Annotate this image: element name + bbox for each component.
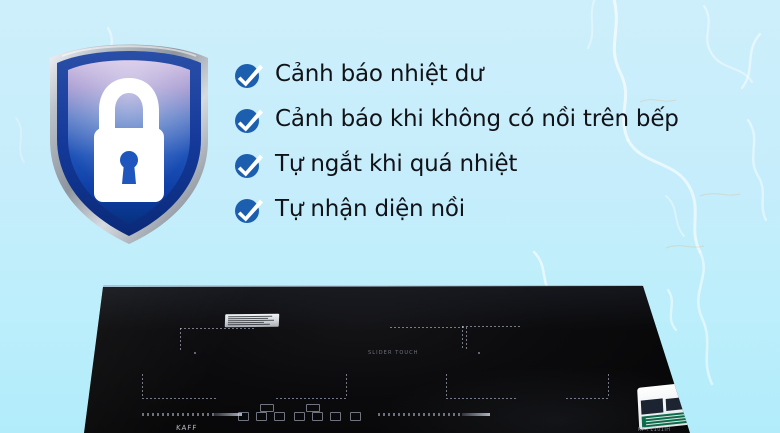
control-key-1[interactable] [238, 412, 249, 421]
sticker-brand: KAFF [677, 387, 688, 393]
control-key-4[interactable] [294, 412, 305, 421]
cooktop-glass-sheen [78, 286, 693, 433]
list-item-label: Cảnh báo nhiệt dư [275, 63, 484, 86]
control-key-power[interactable] [350, 412, 361, 421]
cooktop-surface: SLIDER TOUCH [78, 286, 693, 433]
right-power-slider-fill[interactable] [462, 413, 490, 416]
svg-text:24: 24 [672, 316, 682, 325]
check-circle-icon [233, 58, 265, 90]
zone-center-dot [194, 352, 196, 354]
list-item: Tự nhận diện nồi [233, 187, 753, 232]
banner-stage: Cảnh báo nhiệt dư Cảnh báo khi không có … [0, 0, 780, 433]
cooktop-brand-mark: KAFF [176, 424, 198, 432]
right-power-slider[interactable] [378, 413, 462, 416]
panel-label: SLIDER TOUCH [368, 350, 419, 356]
left-power-slider[interactable] [142, 413, 214, 416]
check-circle-icon [233, 103, 265, 135]
zone-center-dot [478, 352, 480, 354]
induction-cooktop: SLIDER TOUCH [0, 276, 780, 433]
list-item-label: Tự ngắt khi quá nhiệt [275, 153, 517, 176]
list-item: Tự ngắt khi quá nhiệt [233, 142, 753, 187]
check-circle-icon [233, 148, 265, 180]
feature-list: Cảnh báo nhiệt dư Cảnh báo khi không có … [233, 52, 753, 232]
control-key-6[interactable] [330, 412, 341, 421]
shield-lock-badge [44, 32, 214, 250]
cooktop-model-mark: KF-FL101IH [638, 427, 670, 433]
product-spec-sticker: KAFF [637, 380, 715, 430]
list-item: Cảnh báo nhiệt dư [233, 52, 753, 97]
warranty-badge-icon: 24 [655, 307, 698, 335]
warning-label-sticker [225, 314, 280, 328]
check-circle-icon [233, 193, 265, 225]
control-key-lock[interactable] [260, 404, 274, 412]
control-key-timer[interactable] [306, 404, 320, 412]
list-item-label: Cảnh báo khi không có nồi trên bếp [275, 108, 679, 131]
control-key-2[interactable] [256, 412, 267, 421]
control-key-3[interactable] [274, 412, 285, 421]
list-item: Cảnh báo khi không có nồi trên bếp [233, 97, 753, 142]
list-item-label: Tự nhận diện nồi [275, 198, 465, 221]
control-key-5[interactable] [312, 412, 323, 421]
